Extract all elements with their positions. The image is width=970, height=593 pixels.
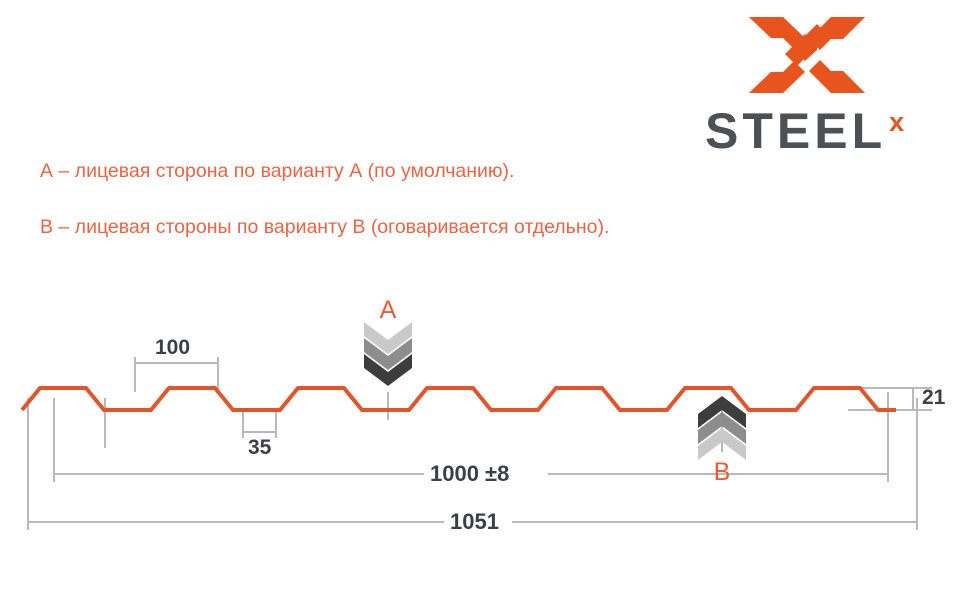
dimension-line-group xyxy=(28,357,932,530)
profile-technical-drawing xyxy=(0,0,970,593)
dimension-label-height: 21 xyxy=(922,386,945,410)
dimension-label-pitch: 100 xyxy=(155,336,190,360)
dimension-label-cover-width: 1000 ±8 xyxy=(430,461,509,487)
marker-b-label: B xyxy=(702,458,742,487)
dimension-label-valley-width: 35 xyxy=(248,436,271,460)
marker-a-label: A xyxy=(368,296,408,325)
marker-a-chevrons xyxy=(364,322,412,386)
drawing-canvas: STEEL x А – лицевая сторона по варианту … xyxy=(0,0,970,593)
dimension-label-total-width: 1051 xyxy=(450,509,499,535)
sheet-profile-polyline xyxy=(22,388,896,410)
